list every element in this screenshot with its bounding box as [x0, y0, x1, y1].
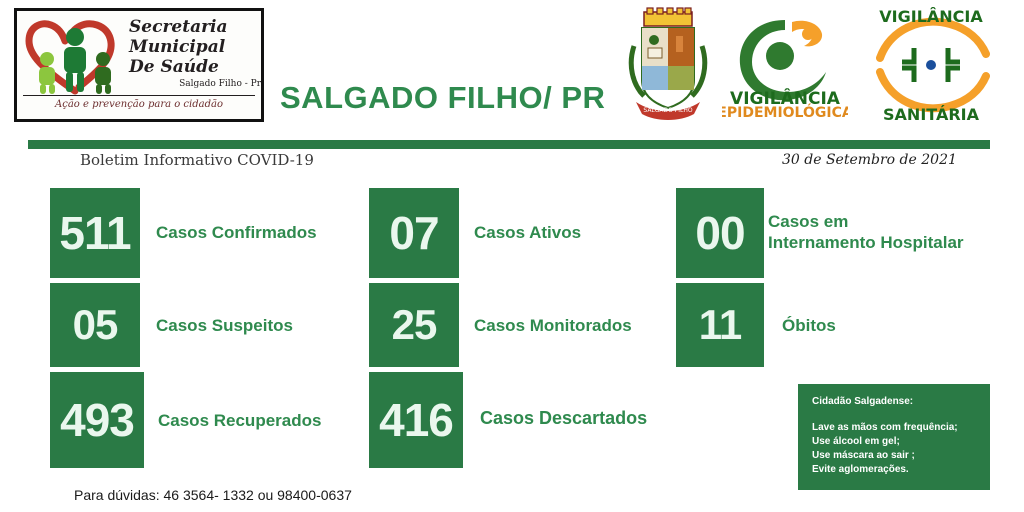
stat-label-casos-ativos: Casos Ativos [474, 222, 654, 243]
stat-label-casos-monitorados: Casos Monitorados [474, 315, 684, 336]
secretaria-logo-wordmark: Secretaria Municipal De Saúde [129, 17, 261, 77]
stat-label-casos-descartados: Casos Descartados [480, 408, 710, 429]
svg-text:SALGADO FILHO: SALGADO FILHO [643, 107, 692, 114]
stat-value-obitos: 11 [699, 304, 741, 346]
brasao-salgado-filho-icon: SALGADO FILHO [628, 6, 708, 124]
svg-text:VIGILÂNCIA: VIGILÂNCIA [879, 7, 983, 26]
stat-value-casos-monitorados: 25 [392, 304, 437, 346]
vigilancia-epidemiologica-icon: VIGILÂNCIA EPIDEMIOLÓGICA [722, 8, 848, 120]
footer-phone-text: Para dúvidas: 46 3564- 1332 ou 98400-063… [74, 487, 352, 503]
svg-text:SANITÁRIA: SANITÁRIA [883, 105, 980, 124]
stat-tile-casos-monitorados: 25 [369, 283, 459, 367]
covid-bulletin-page: Secretaria Municipal De Saúde Salgado Fi… [0, 0, 1024, 512]
stat-tile-casos-ativos: 07 [369, 188, 459, 278]
advisory-line-3: Use máscara ao sair ; [812, 449, 990, 463]
secretaria-logo-divider [23, 95, 255, 96]
stat-tile-casos-confirmados: 511 [50, 188, 140, 278]
family-heart-icon [23, 15, 127, 97]
stat-value-casos-suspeitos: 05 [73, 304, 118, 346]
stat-value-casos-internamento: 00 [695, 210, 744, 256]
advisory-line-1: Lave as mãos com frequência; [812, 421, 990, 435]
stat-tile-casos-recuperados: 493 [50, 372, 144, 468]
secretaria-logo-line1: Secretaria [129, 17, 261, 37]
advisory-line-4: Evite aglomerações. [812, 463, 990, 477]
stat-label-casos-suspeitos: Casos Suspeitos [156, 315, 366, 336]
vigilancia-sanitaria-icon: VIGILÂNCIA SANITÁRIA [856, 6, 1006, 124]
svg-text:EPIDEMIOLÓGICA: EPIDEMIOLÓGICA [722, 103, 848, 120]
stat-tile-casos-internamento: 00 [676, 188, 764, 278]
stat-tile-casos-suspeitos: 05 [50, 283, 140, 367]
stat-label-casos-confirmados: Casos Confirmados [156, 222, 366, 243]
stat-value-casos-recuperados: 493 [60, 397, 134, 443]
stat-tile-casos-descartados: 416 [369, 372, 463, 468]
secretaria-logo-line2: Municipal [129, 37, 261, 57]
stat-value-casos-ativos: 07 [389, 210, 438, 256]
secretaria-logo-subtitle: Salgado Filho - Pr [129, 79, 261, 89]
advisory-heading: Cidadão Salgadense: [812, 396, 990, 407]
bulletin-date: 30 de Setembro de 2021 [782, 152, 957, 168]
stat-label-casos-recuperados: Casos Recuperados [158, 410, 378, 431]
stat-label-obitos: Óbitos [782, 315, 932, 336]
secretaria-municipal-saude-logo: Secretaria Municipal De Saúde Salgado Fi… [14, 8, 264, 122]
advisory-line-2: Use álcool em gel; [812, 435, 990, 449]
advisory-box: Cidadão Salgadense: Lave as mãos com fre… [798, 384, 990, 490]
stat-tile-obitos: 11 [676, 283, 764, 367]
stat-value-casos-descartados: 416 [379, 397, 453, 443]
stat-label-casos-internamento: Casos em Internamento Hospitalar [768, 211, 1024, 253]
header-divider-bar [28, 140, 990, 149]
secretaria-logo-slogan: Ação e prevenção para o cidadão [23, 99, 255, 110]
stat-value-casos-confirmados: 511 [59, 210, 130, 256]
secretaria-logo-line3: De Saúde [129, 57, 261, 77]
page-header: Secretaria Municipal De Saúde Salgado Fi… [0, 0, 1024, 140]
page-title: SALGADO FILHO/ PR [280, 80, 605, 116]
bulletin-label: Boletim Informativo COVID-19 [80, 151, 314, 169]
